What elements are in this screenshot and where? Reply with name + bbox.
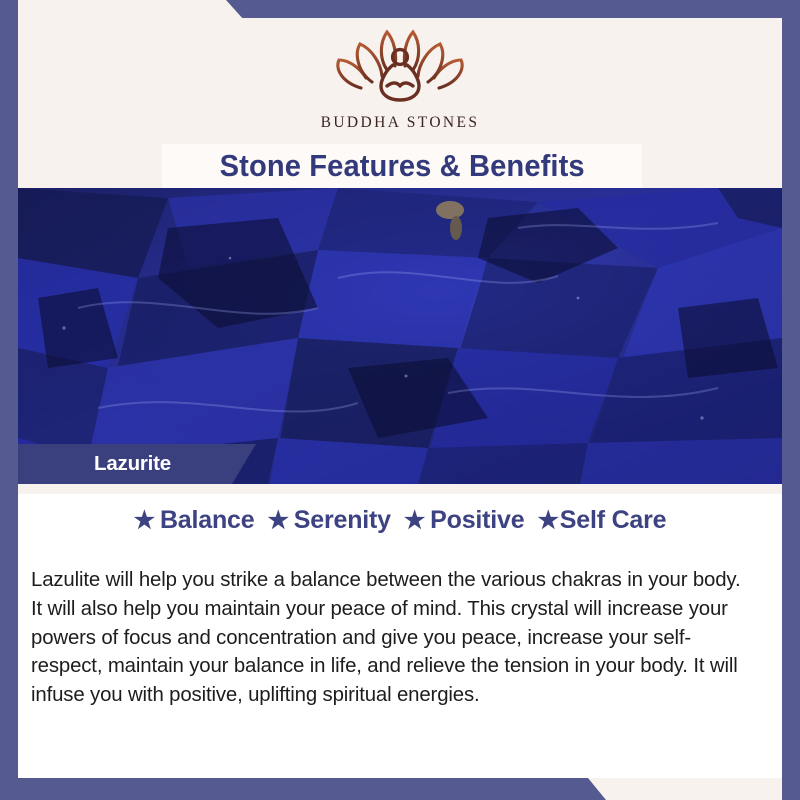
lotus-meditation-icon (325, 24, 475, 110)
frame-border-left (0, 0, 18, 800)
frame-accent-bottom (0, 778, 800, 800)
benefit-keyword-label: Serenity (294, 506, 391, 535)
frame-border-right (782, 0, 800, 800)
benefit-keyword-positive: ★ Positive (404, 506, 525, 535)
star-icon: ★ (134, 509, 155, 533)
stone-benefits-poster: BUDDHA STONES Stone Features & Benefits (0, 0, 800, 800)
stone-name-ribbon: Lazurite (18, 444, 256, 484)
frame-accent-top (0, 0, 800, 20)
star-icon: ★ (404, 509, 425, 533)
benefits-panel: ★ Balance ★ Serenity ★ Positive ★ Self C… (18, 484, 782, 778)
stone-photo: Lazurite (18, 188, 782, 484)
brand-logo: BUDDHA STONES (18, 24, 782, 132)
benefit-keyword-serenity: ★ Serenity (267, 506, 390, 535)
panel-top-strip (18, 484, 782, 494)
poster-header: BUDDHA STONES Stone Features & Benefits (18, 18, 782, 188)
poster-inner-canvas: BUDDHA STONES Stone Features & Benefits (18, 18, 782, 778)
benefit-keyword-label: Positive (430, 506, 524, 535)
brand-name: BUDDHA STONES (321, 114, 480, 132)
benefits-description: Lazulite will help you strike a balance … (31, 566, 757, 709)
benefit-keyword-label: Balance (160, 506, 255, 535)
benefit-keyword-balance: ★ Balance (134, 506, 255, 535)
page-title: Stone Features & Benefits (219, 148, 584, 184)
stone-name-label: Lazurite (94, 452, 171, 476)
star-icon: ★ (537, 509, 558, 533)
star-icon: ★ (267, 509, 288, 533)
benefit-keyword-label: Self Care (560, 506, 667, 535)
stone-photo-graphic (18, 188, 782, 484)
title-band: Stone Features & Benefits (162, 144, 642, 188)
benefit-keyword-self-care: ★ Self Care (537, 506, 666, 535)
benefit-keywords: ★ Balance ★ Serenity ★ Positive ★ Self C… (18, 506, 782, 535)
